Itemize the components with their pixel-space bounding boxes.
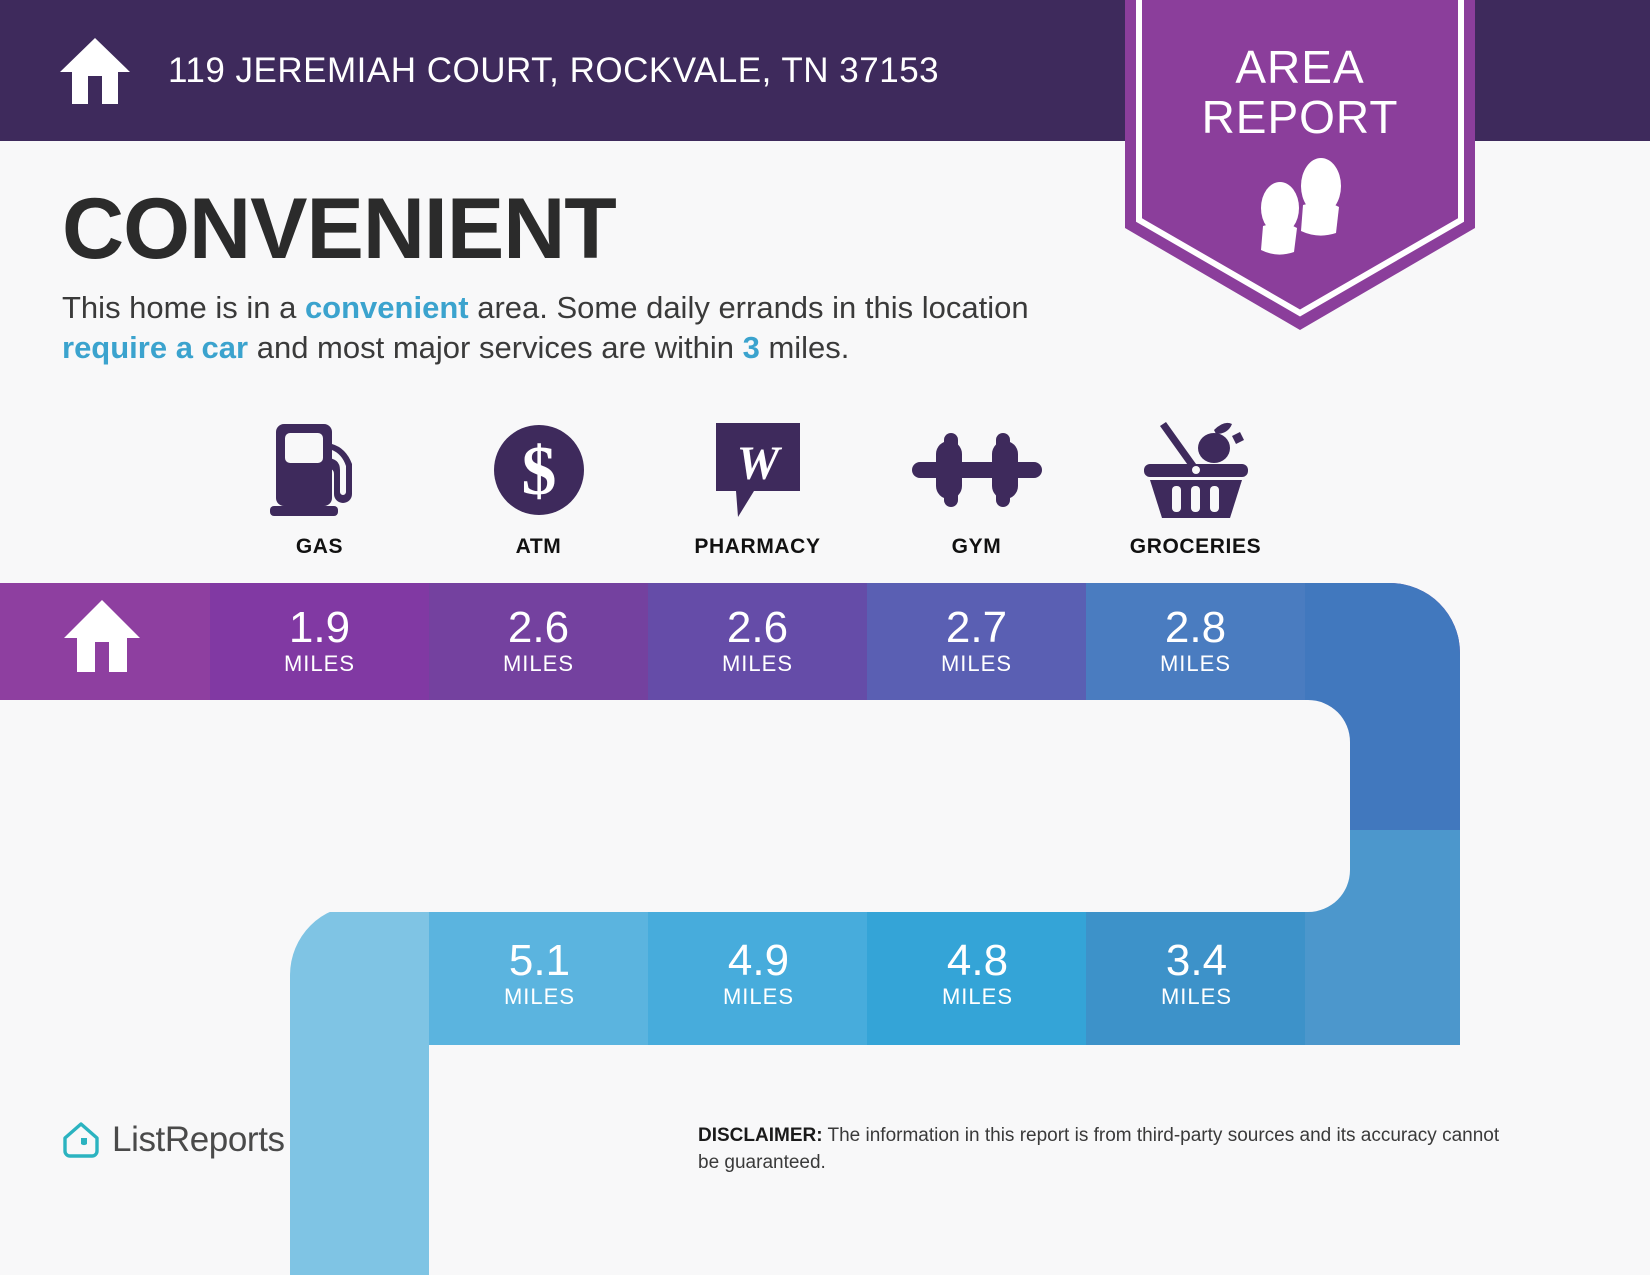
middle-white-card [0, 700, 1350, 912]
badge-line-1: AREA [1125, 42, 1475, 92]
amenity-gas: GAS [210, 420, 429, 559]
disclaimer: DISCLAIMER: The information in this repo… [698, 1122, 1510, 1176]
home-icon [58, 36, 132, 106]
amenity-gym: GYM [867, 420, 1086, 559]
svg-text:$: $ [521, 433, 556, 510]
amenity-label: PHARMACY [694, 535, 820, 559]
svg-text:W: W [736, 437, 782, 490]
amenity-label: GROCERIES [1130, 535, 1261, 559]
subtitle-accent-3: 3 [743, 330, 760, 365]
amenity-label: ATM [516, 535, 562, 559]
disclaimer-label: DISCLAIMER: [698, 1125, 823, 1146]
badge-text: AREA REPORT [1125, 42, 1475, 142]
property-address: 119 JEREMIAH COURT, ROCKVALE, TN 37153 [168, 51, 939, 91]
subtitle-part-3: and most major services are within [248, 330, 742, 365]
page-title: CONVENIENT [62, 186, 616, 272]
ribbon-bottom-cells [290, 905, 1460, 1045]
subtitle-part-4: miles. [760, 330, 850, 365]
dumbbell-icon [912, 420, 1042, 520]
amenity-groceries: GROCERIES [1086, 420, 1305, 559]
amenity-icon-row-top: GAS $ ATM W PHARMACY [210, 420, 1305, 559]
amenity-label: GYM [952, 535, 1002, 559]
header-content: 119 JEREMIAH COURT, ROCKVALE, TN 37153 [58, 0, 939, 141]
page-subtitle: This home is in a convenient area. Some … [62, 288, 1072, 368]
listreports-wordmark: ListReports [112, 1120, 285, 1160]
subtitle-accent-1: convenient [305, 290, 469, 325]
ribbon-top-cells [0, 583, 1460, 700]
ribbon-left-tail [290, 975, 429, 1275]
walgreens-w-icon: W [712, 420, 804, 520]
amenity-label: GAS [296, 535, 343, 559]
amenity-atm: $ ATM [429, 420, 648, 559]
subtitle-part-2: area. Some daily errands in this locatio… [469, 290, 1029, 325]
grocery-basket-icon [1140, 420, 1252, 520]
amenity-pharmacy: W PHARMACY [648, 420, 867, 559]
area-report-badge: AREA REPORT [1125, 0, 1475, 330]
home-marker-icon [62, 598, 142, 674]
subtitle-part-1: This home is in a [62, 290, 305, 325]
listreports-house-icon [62, 1121, 100, 1159]
subtitle-accent-2: require a car [62, 330, 248, 365]
gas-pump-icon [268, 420, 372, 520]
listreports-logo: ListReports [62, 1120, 285, 1160]
dollar-circle-icon: $ [491, 420, 587, 520]
badge-line-2: REPORT [1125, 92, 1475, 142]
